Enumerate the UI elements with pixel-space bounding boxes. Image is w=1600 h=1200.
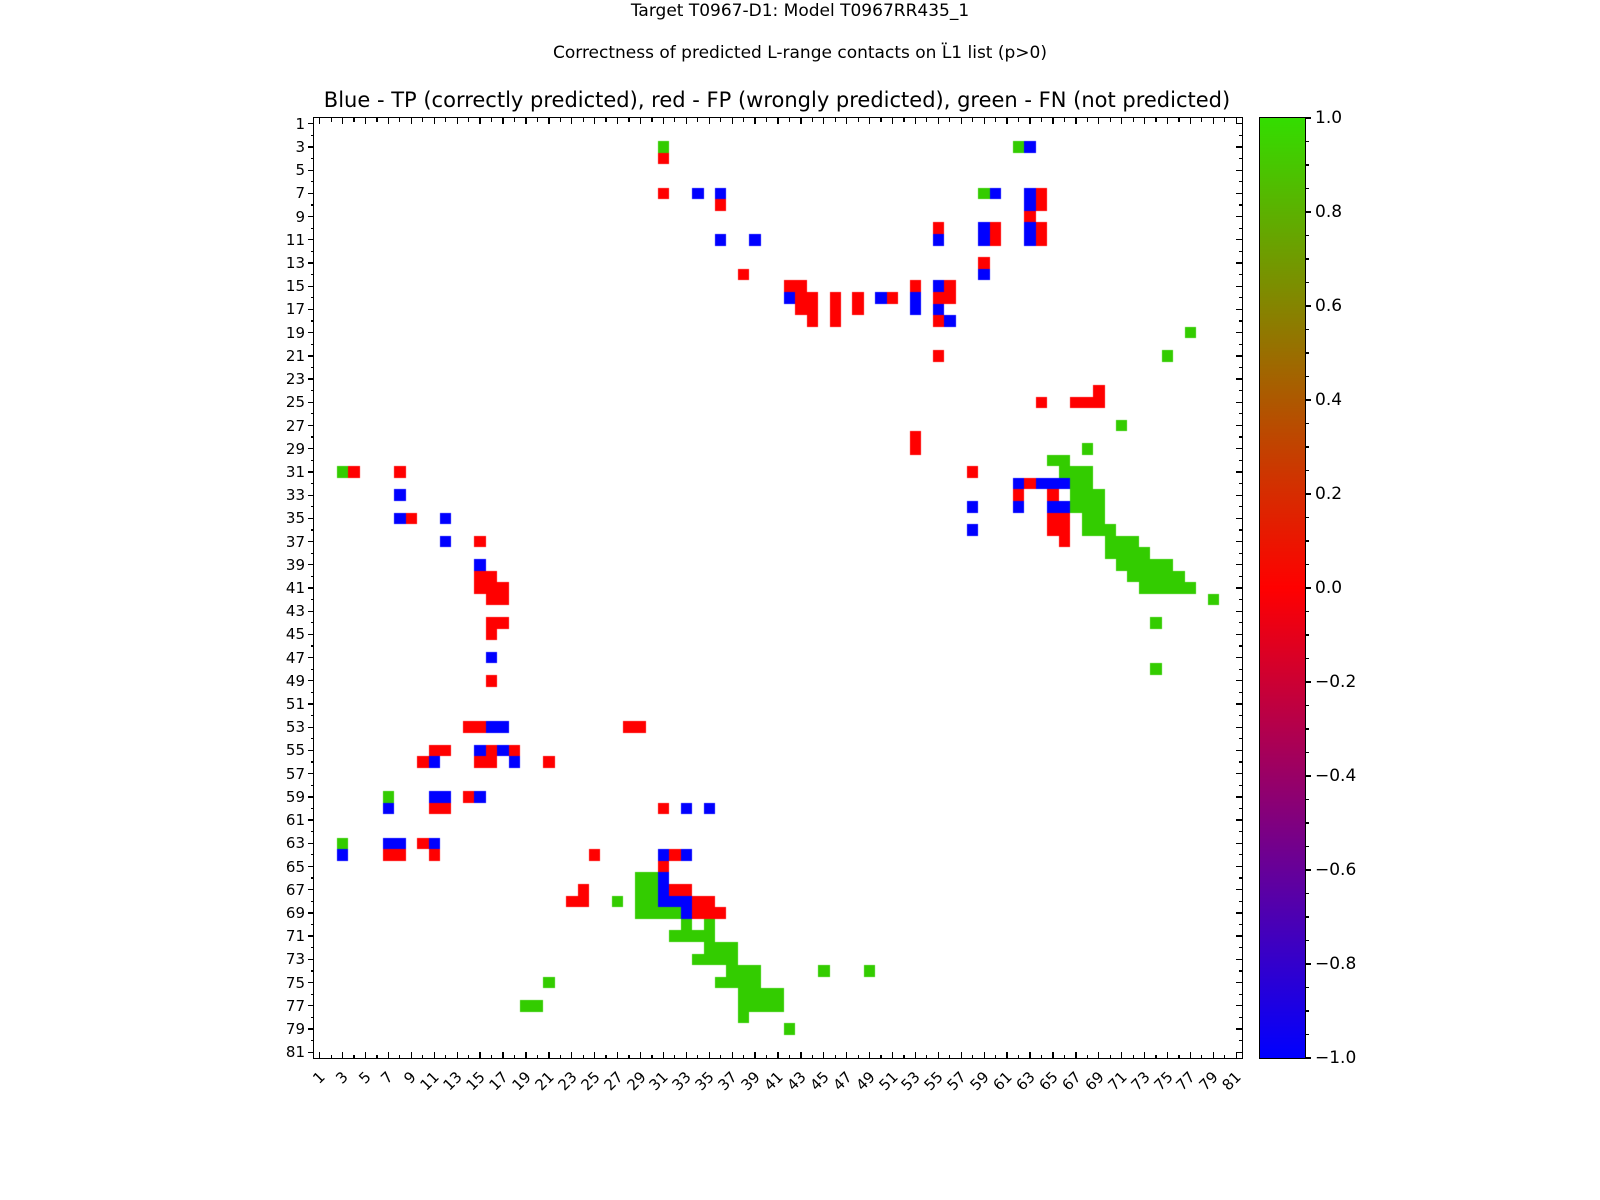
x-tick bbox=[411, 1052, 412, 1058]
x-tick-top bbox=[972, 118, 973, 122]
y-tick-right bbox=[1236, 355, 1242, 356]
x-tick-top bbox=[800, 118, 801, 124]
y-tick-label: 15 bbox=[286, 277, 305, 295]
y-tick-right bbox=[1236, 912, 1242, 913]
y-tick bbox=[311, 831, 315, 832]
y-tick-label: 77 bbox=[286, 997, 305, 1015]
y-tick-right bbox=[1236, 448, 1242, 449]
colorbar-tick bbox=[1305, 305, 1311, 306]
y-tick-label: 73 bbox=[286, 950, 305, 968]
y-tick bbox=[308, 819, 314, 820]
x-tick-top bbox=[605, 118, 606, 122]
x-tick bbox=[869, 1052, 870, 1058]
colorbar-minor-tick bbox=[1305, 1010, 1309, 1011]
y-tick-label: 25 bbox=[286, 393, 305, 411]
y-tick bbox=[311, 460, 315, 461]
x-tick bbox=[1236, 1052, 1237, 1058]
y-tick-label: 69 bbox=[286, 904, 305, 922]
colorbar-tick-label: 0.2 bbox=[1315, 484, 1342, 504]
x-tick-top bbox=[491, 118, 492, 122]
y-tick bbox=[308, 935, 314, 936]
y-tick bbox=[308, 425, 314, 426]
x-tick-top bbox=[479, 118, 480, 124]
y-tick bbox=[311, 599, 315, 600]
y-tick-label: 71 bbox=[286, 927, 305, 945]
x-tick bbox=[697, 1055, 698, 1059]
y-tick-right bbox=[1239, 622, 1243, 623]
y-tick bbox=[311, 994, 315, 995]
y-tick-label: 21 bbox=[286, 347, 305, 365]
y-tick-label: 55 bbox=[286, 741, 305, 759]
y-tick-right bbox=[1239, 715, 1243, 716]
x-tick-top bbox=[789, 118, 790, 122]
x-tick-top bbox=[1041, 118, 1042, 122]
x-tick bbox=[1224, 1055, 1225, 1059]
x-tick-top bbox=[319, 118, 320, 124]
colorbar-tick-label: −0.4 bbox=[1315, 766, 1356, 786]
x-tick-top bbox=[365, 118, 366, 124]
y-tick-label: 51 bbox=[286, 695, 305, 713]
x-tick-top bbox=[903, 118, 904, 122]
x-tick-top bbox=[640, 118, 641, 124]
x-tick-top bbox=[697, 118, 698, 122]
y-tick bbox=[308, 611, 314, 612]
x-tick bbox=[892, 1052, 893, 1058]
y-tick bbox=[308, 634, 314, 635]
x-tick-top bbox=[1064, 118, 1065, 122]
x-tick-top bbox=[1178, 118, 1179, 122]
colorbar-minor-tick bbox=[1305, 282, 1309, 283]
y-tick-right bbox=[1239, 970, 1243, 971]
x-tick-top bbox=[880, 118, 881, 122]
x-tick bbox=[1087, 1055, 1088, 1059]
x-tick bbox=[926, 1055, 927, 1059]
x-tick bbox=[605, 1055, 606, 1059]
y-tick-right bbox=[1236, 170, 1242, 171]
colorbar-minor-tick bbox=[1305, 258, 1309, 259]
y-tick-label: 19 bbox=[286, 324, 305, 342]
x-tick-top bbox=[434, 118, 435, 124]
y-tick bbox=[311, 669, 315, 670]
y-tick-right bbox=[1236, 309, 1242, 310]
x-tick bbox=[640, 1052, 641, 1058]
y-tick-right bbox=[1239, 228, 1243, 229]
figure-suptitle-line2: Correctness of predicted L-range contact… bbox=[0, 42, 1600, 64]
x-tick-top bbox=[388, 118, 389, 124]
colorbar-minor-tick bbox=[1305, 564, 1309, 565]
y-tick bbox=[311, 204, 315, 205]
colorbar-tick bbox=[1305, 587, 1311, 588]
y-tick bbox=[311, 413, 315, 414]
y-tick-right bbox=[1236, 587, 1242, 588]
x-tick bbox=[457, 1052, 458, 1058]
y-tick-label: 43 bbox=[286, 602, 305, 620]
x-tick bbox=[1144, 1052, 1145, 1058]
x-tick-top bbox=[1213, 118, 1214, 124]
y-tick-right bbox=[1236, 286, 1242, 287]
x-tick-top bbox=[1144, 118, 1145, 124]
y-tick bbox=[308, 123, 314, 124]
y-tick bbox=[311, 877, 315, 878]
y-tick bbox=[311, 251, 315, 252]
y-tick bbox=[311, 1017, 315, 1018]
x-tick bbox=[663, 1052, 664, 1058]
x-tick-top bbox=[353, 118, 354, 122]
y-tick-right bbox=[1236, 193, 1242, 194]
x-tick bbox=[1213, 1052, 1214, 1058]
x-tick bbox=[984, 1052, 985, 1058]
y-tick-right bbox=[1236, 727, 1242, 728]
x-tick bbox=[961, 1052, 962, 1058]
x-tick bbox=[903, 1055, 904, 1059]
x-tick bbox=[1006, 1052, 1007, 1058]
colorbar-tick-label: 1.0 bbox=[1315, 108, 1342, 128]
y-tick bbox=[311, 1040, 315, 1041]
y-tick-right bbox=[1236, 843, 1242, 844]
y-tick-right bbox=[1236, 378, 1242, 379]
x-tick-top bbox=[1236, 118, 1237, 124]
x-tick-top bbox=[1201, 118, 1202, 122]
x-tick bbox=[686, 1052, 687, 1058]
x-tick bbox=[995, 1055, 996, 1059]
x-tick bbox=[365, 1052, 366, 1058]
x-tick bbox=[1041, 1055, 1042, 1059]
y-tick bbox=[311, 785, 315, 786]
y-tick-right bbox=[1236, 959, 1242, 960]
colorbar-tick-label: 0.8 bbox=[1315, 202, 1342, 222]
y-tick-right bbox=[1239, 483, 1243, 484]
colorbar-minor-tick bbox=[1305, 705, 1309, 706]
y-tick-label: 81 bbox=[286, 1043, 305, 1061]
y-tick-label: 65 bbox=[286, 858, 305, 876]
y-tick-right bbox=[1239, 181, 1243, 182]
y-tick bbox=[311, 529, 315, 530]
x-tick-top bbox=[1087, 118, 1088, 122]
y-tick-right bbox=[1239, 738, 1243, 739]
colorbar-minor-tick bbox=[1305, 423, 1309, 424]
x-tick bbox=[1178, 1055, 1179, 1059]
x-tick-top bbox=[1224, 118, 1225, 122]
x-tick bbox=[858, 1055, 859, 1059]
y-tick-right bbox=[1236, 634, 1242, 635]
y-tick bbox=[308, 587, 314, 588]
y-tick-label: 23 bbox=[286, 370, 305, 388]
x-tick-top bbox=[1006, 118, 1007, 124]
x-tick-top bbox=[674, 118, 675, 122]
x-tick-top bbox=[571, 118, 572, 124]
y-tick bbox=[311, 344, 315, 345]
x-tick-top bbox=[1167, 118, 1168, 124]
y-tick bbox=[308, 355, 314, 356]
colorbar-minor-tick bbox=[1305, 799, 1309, 800]
x-tick bbox=[651, 1055, 652, 1059]
x-tick-top bbox=[331, 118, 332, 122]
y-tick-right bbox=[1236, 703, 1242, 704]
y-tick-right bbox=[1236, 425, 1242, 426]
x-tick bbox=[1133, 1055, 1134, 1059]
x-tick bbox=[938, 1052, 939, 1058]
y-tick-right bbox=[1236, 773, 1242, 774]
x-tick-top bbox=[926, 118, 927, 122]
x-tick bbox=[560, 1055, 561, 1059]
y-tick bbox=[308, 518, 314, 519]
y-tick-right bbox=[1236, 657, 1242, 658]
y-tick bbox=[311, 947, 315, 948]
colorbar-minor-tick bbox=[1305, 470, 1309, 471]
x-tick bbox=[376, 1055, 377, 1059]
x-tick bbox=[502, 1052, 503, 1058]
y-tick-right bbox=[1236, 750, 1242, 751]
y-tick-right bbox=[1239, 785, 1243, 786]
x-tick-top bbox=[1052, 118, 1053, 124]
y-tick bbox=[311, 553, 315, 554]
y-tick-right bbox=[1239, 251, 1243, 252]
x-tick bbox=[479, 1052, 480, 1058]
y-tick-label: 1 bbox=[295, 115, 305, 133]
x-tick bbox=[732, 1052, 733, 1058]
x-tick-top bbox=[1133, 118, 1134, 122]
y-tick-right bbox=[1239, 761, 1243, 762]
y-tick-right bbox=[1236, 332, 1242, 333]
x-tick bbox=[709, 1052, 710, 1058]
y-tick bbox=[308, 773, 314, 774]
colorbar-tick-label: −0.2 bbox=[1315, 672, 1356, 692]
y-tick bbox=[311, 158, 315, 159]
y-tick-right bbox=[1239, 947, 1243, 948]
y-tick-right bbox=[1239, 599, 1243, 600]
y-tick-right bbox=[1239, 924, 1243, 925]
colorbar-tick-label: −0.6 bbox=[1315, 860, 1356, 880]
y-tick-right bbox=[1239, 854, 1243, 855]
x-tick bbox=[434, 1052, 435, 1058]
y-tick-right bbox=[1239, 1017, 1243, 1018]
y-tick bbox=[311, 854, 315, 855]
y-tick-label: 27 bbox=[286, 417, 305, 435]
colorbar-tick bbox=[1305, 681, 1311, 682]
y-tick-right bbox=[1239, 576, 1243, 577]
x-tick-top bbox=[1190, 118, 1191, 124]
x-tick bbox=[353, 1055, 354, 1059]
x-tick-top bbox=[502, 118, 503, 124]
x-tick bbox=[1190, 1052, 1191, 1058]
x-tick bbox=[514, 1055, 515, 1059]
x-tick bbox=[1018, 1055, 1019, 1059]
x-tick-top bbox=[812, 118, 813, 122]
y-tick-label: 61 bbox=[286, 811, 305, 829]
y-tick-label: 41 bbox=[286, 579, 305, 597]
x-tick-top bbox=[663, 118, 664, 124]
y-tick bbox=[311, 181, 315, 182]
x-tick-top bbox=[548, 118, 549, 124]
x-tick bbox=[319, 1052, 320, 1058]
y-tick-right bbox=[1236, 935, 1242, 936]
x-tick bbox=[537, 1055, 538, 1059]
x-tick bbox=[1064, 1055, 1065, 1059]
x-tick-top bbox=[858, 118, 859, 122]
x-tick-top bbox=[560, 118, 561, 122]
y-tick-right bbox=[1239, 994, 1243, 995]
colorbar-minor-tick bbox=[1305, 634, 1309, 635]
x-tick bbox=[823, 1052, 824, 1058]
colorbar-tick bbox=[1305, 775, 1311, 776]
colorbar-minor-tick bbox=[1305, 164, 1309, 165]
y-tick-right bbox=[1239, 367, 1243, 368]
x-tick bbox=[525, 1052, 526, 1058]
y-tick-right bbox=[1239, 135, 1243, 136]
colorbar-minor-tick bbox=[1305, 376, 1309, 377]
contact-map-plot[interactable]: 1357911131517192123252729313335373941434… bbox=[313, 117, 1243, 1059]
y-tick bbox=[308, 378, 314, 379]
colorbar-tick bbox=[1305, 1057, 1311, 1058]
y-tick-right bbox=[1239, 506, 1243, 507]
colorbar-minor-tick bbox=[1305, 188, 1309, 189]
y-tick bbox=[311, 436, 315, 437]
x-tick bbox=[754, 1052, 755, 1058]
y-tick bbox=[311, 901, 315, 902]
x-tick-top bbox=[732, 118, 733, 124]
colorbar-minor-tick bbox=[1305, 822, 1309, 823]
y-tick-right bbox=[1239, 529, 1243, 530]
y-tick-right bbox=[1236, 796, 1242, 797]
y-tick bbox=[308, 843, 314, 844]
colorbar-tick bbox=[1305, 493, 1311, 494]
y-tick-label: 67 bbox=[286, 881, 305, 899]
y-tick bbox=[308, 332, 314, 333]
x-tick-top bbox=[835, 118, 836, 122]
colorbar[interactable]: 1.00.80.60.40.20.0−0.2−0.4−0.6−0.8−1.0 bbox=[1259, 117, 1306, 1059]
y-tick-right bbox=[1239, 436, 1243, 437]
x-tick-top bbox=[961, 118, 962, 124]
y-tick bbox=[311, 390, 315, 391]
y-tick-label: 59 bbox=[286, 788, 305, 806]
y-tick-right bbox=[1236, 819, 1242, 820]
colorbar-minor-tick bbox=[1305, 352, 1309, 353]
y-tick bbox=[308, 309, 314, 310]
y-tick bbox=[311, 228, 315, 229]
y-tick-right bbox=[1239, 297, 1243, 298]
x-tick bbox=[846, 1052, 847, 1058]
y-tick bbox=[308, 680, 314, 681]
y-tick bbox=[308, 889, 314, 890]
y-tick-label: 45 bbox=[286, 625, 305, 643]
x-tick bbox=[548, 1052, 549, 1058]
y-tick-right bbox=[1236, 1028, 1242, 1029]
y-tick-right bbox=[1239, 808, 1243, 809]
x-tick bbox=[1110, 1055, 1111, 1059]
y-tick-right bbox=[1239, 669, 1243, 670]
colorbar-tick bbox=[1305, 211, 1311, 212]
x-tick-top bbox=[1098, 118, 1099, 124]
colorbar-minor-tick bbox=[1305, 540, 1309, 541]
colorbar-minor-tick bbox=[1305, 893, 1309, 894]
y-tick-right bbox=[1236, 982, 1242, 983]
y-tick bbox=[308, 564, 314, 565]
x-tick-top bbox=[537, 118, 538, 122]
x-tick-top bbox=[411, 118, 412, 124]
colorbar-minor-tick bbox=[1305, 987, 1309, 988]
x-tick bbox=[617, 1052, 618, 1058]
y-tick bbox=[311, 274, 315, 275]
y-tick bbox=[311, 576, 315, 577]
y-tick bbox=[308, 170, 314, 171]
x-tick-top bbox=[720, 118, 721, 122]
x-tick bbox=[949, 1055, 950, 1059]
x-tick bbox=[1121, 1052, 1122, 1058]
x-tick bbox=[422, 1055, 423, 1059]
y-tick-label: 7 bbox=[295, 184, 305, 202]
y-tick bbox=[308, 727, 314, 728]
axes-title-legend: Blue - TP (correctly predicted), red - F… bbox=[313, 88, 1241, 112]
y-tick bbox=[311, 692, 315, 693]
x-tick-top bbox=[445, 118, 446, 122]
x-tick bbox=[1052, 1052, 1053, 1058]
x-tick bbox=[468, 1055, 469, 1059]
x-tick bbox=[331, 1055, 332, 1059]
y-tick bbox=[308, 262, 314, 263]
x-tick-top bbox=[766, 118, 767, 122]
y-tick-right bbox=[1236, 889, 1242, 890]
y-tick-label: 5 bbox=[295, 161, 305, 179]
colorbar-minor-tick bbox=[1305, 752, 1309, 753]
y-tick bbox=[311, 738, 315, 739]
y-tick-right bbox=[1236, 564, 1242, 565]
figure-suptitle-line1: Target T0967-D1: Model T0967RR435_1 bbox=[0, 0, 1600, 22]
x-tick-top bbox=[869, 118, 870, 124]
y-tick-right bbox=[1236, 402, 1242, 403]
y-tick-label: 17 bbox=[286, 300, 305, 318]
y-tick-right bbox=[1239, 877, 1243, 878]
x-tick-top bbox=[846, 118, 847, 124]
y-tick bbox=[311, 808, 315, 809]
x-tick bbox=[1155, 1055, 1156, 1059]
y-tick-label: 79 bbox=[286, 1020, 305, 1038]
colorbar-minor-tick bbox=[1305, 611, 1309, 612]
y-tick bbox=[308, 1028, 314, 1029]
y-tick-right bbox=[1236, 611, 1242, 612]
x-tick-top bbox=[938, 118, 939, 124]
y-tick bbox=[308, 982, 314, 983]
x-tick-top bbox=[823, 118, 824, 124]
y-tick bbox=[311, 970, 315, 971]
y-tick-label: 39 bbox=[286, 556, 305, 574]
y-tick bbox=[311, 761, 315, 762]
y-tick bbox=[308, 448, 314, 449]
y-tick-label: 31 bbox=[286, 463, 305, 481]
y-tick-right bbox=[1236, 1005, 1242, 1006]
y-tick-right bbox=[1239, 320, 1243, 321]
y-tick bbox=[311, 924, 315, 925]
y-tick-right bbox=[1239, 901, 1243, 902]
y-tick bbox=[311, 297, 315, 298]
y-tick-label: 29 bbox=[286, 440, 305, 458]
y-tick bbox=[308, 146, 314, 147]
colorbar-minor-tick bbox=[1305, 235, 1309, 236]
x-tick-top bbox=[514, 118, 515, 122]
y-tick bbox=[311, 320, 315, 321]
y-tick-label: 35 bbox=[286, 509, 305, 527]
y-tick-label: 9 bbox=[295, 208, 305, 226]
x-tick-top bbox=[525, 118, 526, 124]
colorbar-minor-tick bbox=[1305, 446, 1309, 447]
y-tick-label: 63 bbox=[286, 834, 305, 852]
x-tick-top bbox=[754, 118, 755, 124]
y-tick bbox=[308, 912, 314, 913]
y-tick bbox=[308, 1005, 314, 1006]
y-tick-right bbox=[1239, 344, 1243, 345]
y-tick bbox=[311, 483, 315, 484]
x-tick-top bbox=[651, 118, 652, 122]
y-tick-label: 11 bbox=[286, 231, 305, 249]
